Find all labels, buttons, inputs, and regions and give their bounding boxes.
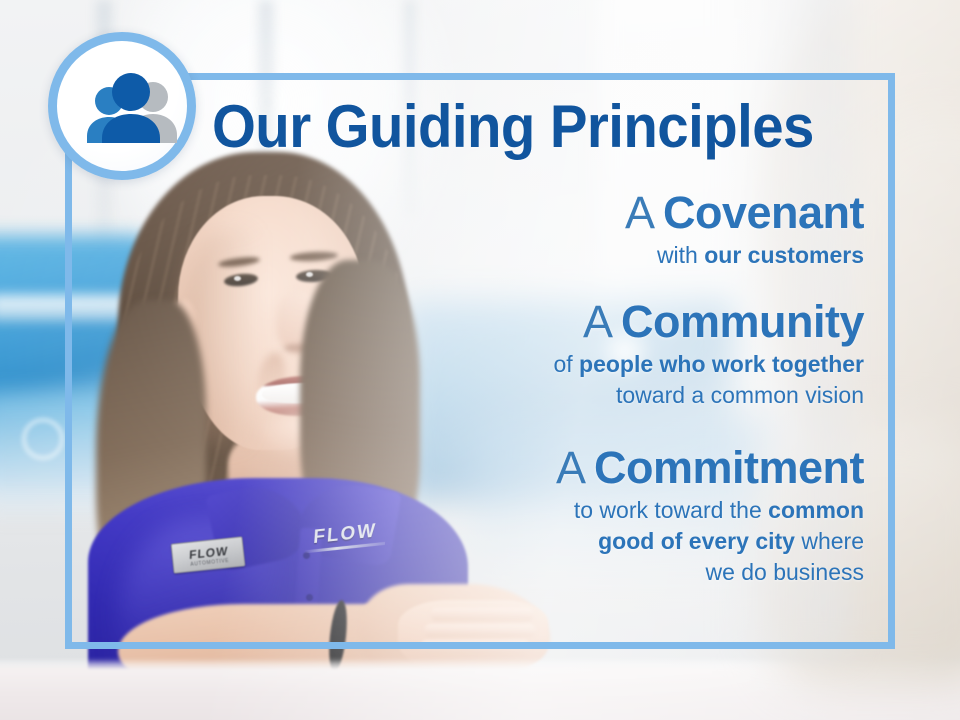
people-group-icon: [79, 71, 183, 159]
sub-text: of: [553, 351, 579, 377]
sub-text-bold: people who work together: [579, 351, 864, 377]
people-group-icon-badge: [48, 32, 196, 180]
sub-text-bold: our customers: [704, 242, 864, 268]
principle-article: A: [583, 296, 613, 347]
principle-heading: ACommitment: [200, 441, 864, 495]
principle-article: A: [556, 442, 586, 493]
sub-line: toward a common vision: [200, 380, 864, 411]
sub-text-bold: good of every city: [598, 528, 795, 554]
principle-subtext: to work toward the common good of every …: [200, 495, 864, 588]
principle-article: A: [625, 187, 655, 238]
principle-commitment: ACommitment to work toward the common go…: [200, 441, 864, 588]
principle-subtext: with our customers: [200, 240, 864, 271]
sub-line: to work toward the common: [200, 495, 864, 526]
sub-text: we do business: [705, 559, 864, 585]
guiding-principles-poster: FLOW FLOW AUTOMOTIVE: [0, 0, 960, 720]
sub-line: of people who work together: [200, 349, 864, 380]
principle-heading: ACovenant: [200, 186, 864, 240]
principle-covenant: ACovenant with our customers: [200, 186, 864, 271]
sub-text: where: [795, 528, 864, 554]
page-title: Our Guiding Principles: [212, 94, 832, 160]
principle-keyword: Community: [621, 296, 864, 347]
principle-community: ACommunity of people who work together t…: [200, 295, 864, 411]
principle-keyword: Commitment: [594, 442, 864, 493]
principle-heading: ACommunity: [200, 295, 864, 349]
sub-line: good of every city where: [200, 526, 864, 557]
principles-list: ACovenant with our customers ACommunity …: [200, 186, 880, 594]
principle-keyword: Covenant: [663, 187, 864, 238]
sub-text: toward a common vision: [616, 382, 864, 408]
sub-line: with our customers: [200, 240, 864, 271]
sub-text-bold: common: [768, 497, 864, 523]
principle-subtext: of people who work together toward a com…: [200, 349, 864, 411]
sub-line: we do business: [200, 557, 864, 588]
sub-text: to work toward the: [574, 497, 768, 523]
sub-text: with: [657, 242, 704, 268]
